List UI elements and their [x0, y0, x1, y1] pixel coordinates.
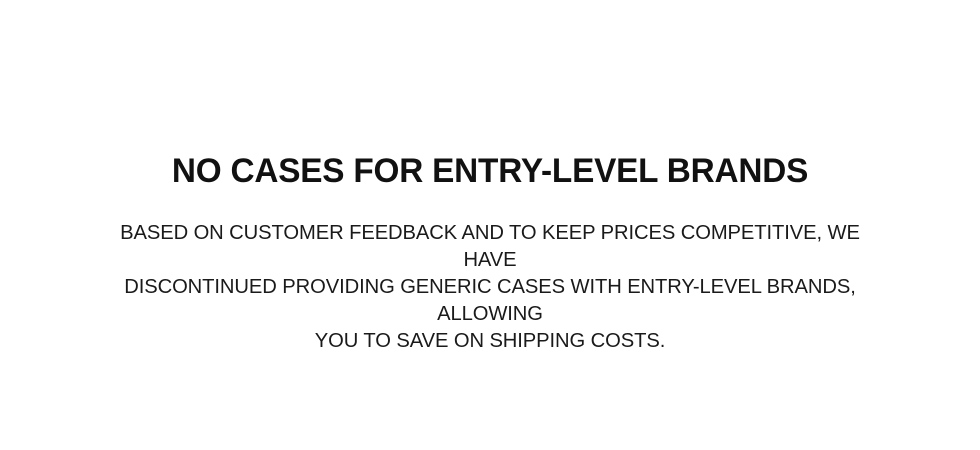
promo-description-line: YOU TO SAVE ON SHIPPING COSTS.: [96, 327, 884, 354]
promo-description-line: BASED ON CUSTOMER FEEDBACK AND TO KEEP P…: [96, 219, 884, 273]
page-title: NO CASES FOR ENTRY-LEVEL BRANDS: [49, 0, 931, 190]
promo-description: BASED ON CUSTOMER FEEDBACK AND TO KEEP P…: [96, 190, 884, 354]
promo-banner-content: NO CASES FOR ENTRY-LEVEL BRANDS BASED ON…: [40, 0, 940, 354]
promo-banner: NO CASES FOR ENTRY-LEVEL BRANDS BASED ON…: [0, 0, 980, 450]
promo-description-line: DISCONTINUED PROVIDING GENERIC CASES WIT…: [96, 273, 884, 327]
